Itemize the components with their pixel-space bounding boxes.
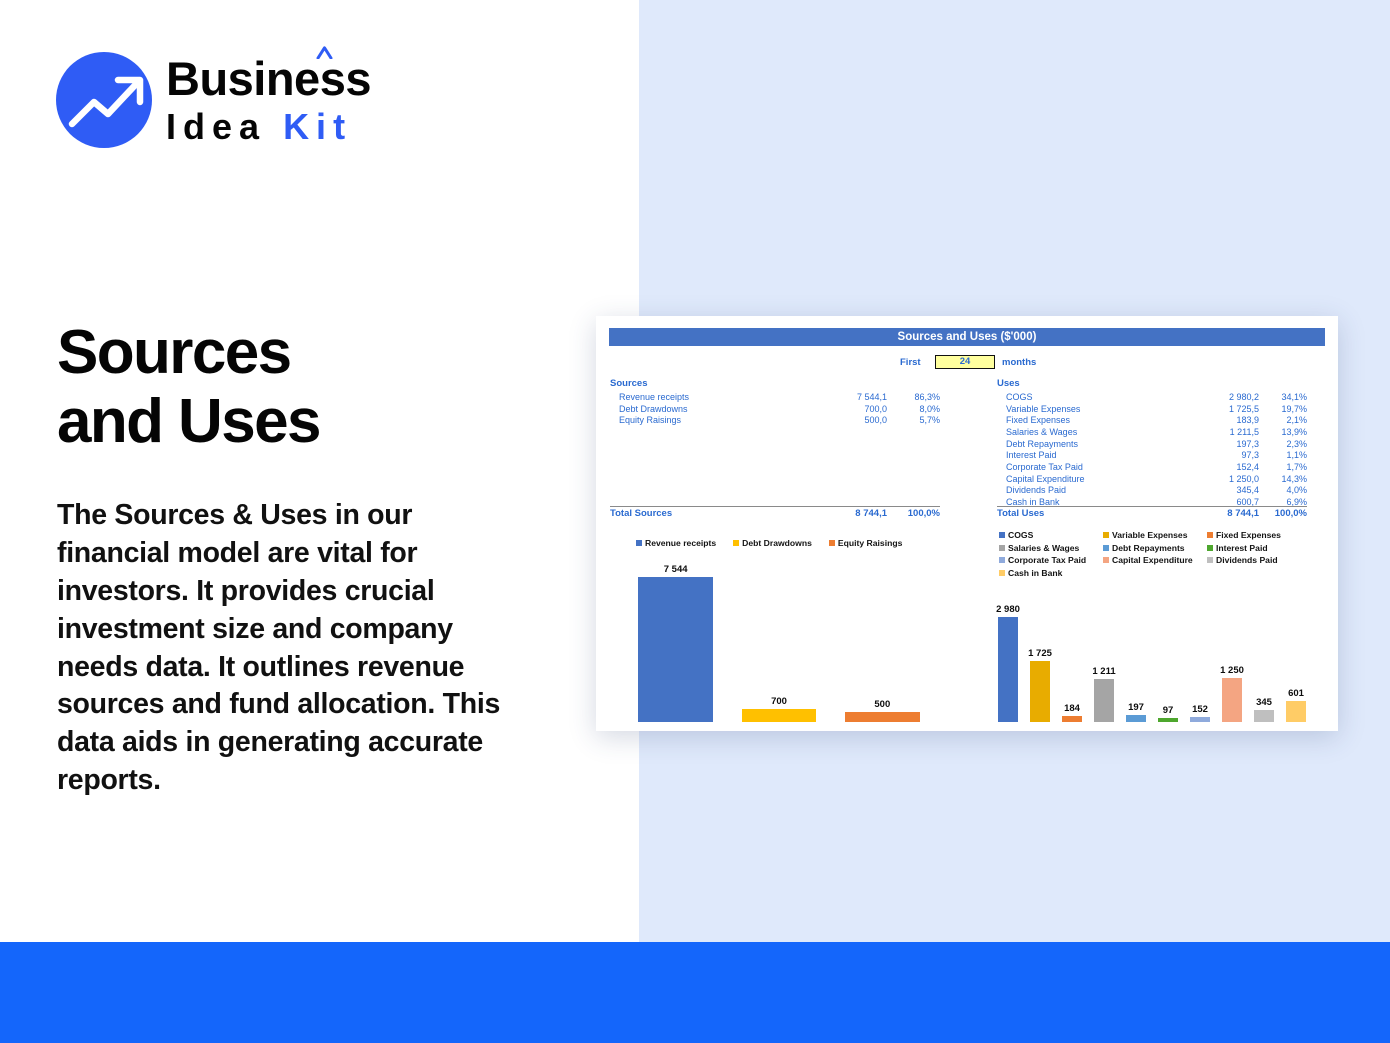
legend-swatch-icon [733,540,739,546]
bar [1254,710,1274,722]
bar [1222,678,1242,722]
row-label: COGS [997,392,1197,402]
table-row: Capital Expenditure1 250,014,3% [997,473,1307,485]
brand-name-line2: Idea Kit [166,109,371,145]
row-label: Variable Expenses [997,404,1197,414]
bar-column: 1 725 [1030,648,1050,722]
bar-column: 500 [845,699,919,722]
legend-swatch-icon [636,540,642,546]
legend-label: COGS [1008,530,1033,540]
brand-idea-text: Idea [166,106,266,147]
legend-swatch-icon [1207,532,1213,538]
row-percent: 2,3% [1259,439,1307,449]
bar-column: 184 [1062,703,1082,722]
row-value: 1 211,5 [1197,427,1259,437]
row-percent: 5,7% [888,415,940,425]
legend-item: Equity Raisings [829,538,902,548]
row-percent: 2,1% [1259,415,1307,425]
row-label: Revenue receipts [610,392,825,402]
bar-value-label: 1 725 [1028,648,1052,659]
brand-logo: Business Idea Kit [56,52,371,148]
row-label: Capital Expenditure [997,474,1197,484]
legend-label: Variable Expenses [1112,530,1187,540]
legend-item: Capital Expenditure [1103,555,1203,565]
sources-total-pct: 100,0% [888,508,940,519]
row-percent: 14,3% [1259,474,1307,484]
row-label: Debt Repayments [997,439,1197,449]
row-value: 152,4 [1197,462,1259,472]
row-percent: 13,9% [1259,427,1307,437]
bar-value-label: 152 [1192,704,1208,715]
legend-item: Dividends Paid [1207,555,1307,565]
legend-swatch-icon [1207,545,1213,551]
uses-table-header: Uses [997,378,1307,389]
legend-label: Salaries & Wages [1008,543,1079,553]
sources-total-label: Total Sources [610,508,825,519]
row-value: 97,3 [1197,450,1259,460]
legend-label: Interest Paid [1216,543,1268,553]
bar-column: 1 250 [1222,665,1242,722]
legend-swatch-icon [1103,545,1109,551]
bar-column: 700 [742,696,816,722]
bar-value-label: 97 [1163,705,1174,716]
table-row: Dividends Paid345,44,0% [997,485,1307,497]
legend-label: Debt Repayments [1112,543,1185,553]
row-percent: 34,1% [1259,392,1307,402]
bar-value-label: 197 [1128,702,1144,713]
legend-item: Debt Repayments [1103,543,1203,553]
legend-item: Debt Drawdowns [733,538,812,548]
bar [1126,715,1146,722]
uses-total-value: 8 744,1 [1197,508,1259,519]
brand-name-text: Business [166,52,371,105]
bar-column: 1 211 [1094,666,1114,722]
bar [742,709,816,722]
legend-swatch-icon [999,545,1005,551]
uses-table: Uses COGS2 980,234,1%Variable Expenses1 … [997,378,1307,508]
legend-label: Corporate Tax Paid [1008,555,1086,565]
row-percent: 8,0% [888,404,940,414]
legend-item: Cash in Bank [999,568,1099,578]
row-label: Fixed Expenses [997,415,1197,425]
bar-column: 152 [1190,704,1210,722]
legend-label: Revenue receipts [645,538,716,548]
table-row: Equity Raisings500,05,7% [610,414,940,426]
bar [1062,716,1082,722]
row-value: 197,3 [1197,439,1259,449]
uses-bar-chart: 2 9801 7251841 211197971521 250345601 [992,600,1312,722]
row-value: 183,9 [1197,415,1259,425]
row-percent: 4,0% [1259,485,1307,495]
table-row: Debt Repayments197,32,3% [997,438,1307,450]
sources-total-row: Total Sources 8 744,1 100,0% [610,506,940,519]
bar-column: 197 [1126,702,1146,722]
bar [1094,679,1114,722]
legend-swatch-icon [999,532,1005,538]
bar [638,577,712,722]
spreadsheet-title: Sources and Uses ($'000) [609,328,1325,346]
page-description: The Sources & Uses in our financial mode… [57,497,517,800]
sources-bar-chart: 7 544700500 [624,558,934,722]
sources-chart-legend: Revenue receiptsDebt DrawdownsEquity Rai… [636,538,936,551]
bar-value-label: 601 [1288,688,1304,699]
row-value: 500,0 [825,415,887,425]
table-row: Salaries & Wages1 211,513,9% [997,426,1307,438]
uses-total-label: Total Uses [997,508,1197,519]
legend-swatch-icon [999,557,1005,563]
row-value: 1 725,5 [1197,404,1259,414]
row-label: Debt Drawdowns [610,404,825,414]
period-suffix-label: months [1002,357,1036,368]
uses-total-row: Total Uses 8 744,1 100,0% [997,506,1307,519]
brand-kit-text: Kit [283,106,352,147]
bar [1030,661,1050,722]
legend-swatch-icon [829,540,835,546]
row-value: 2 980,2 [1197,392,1259,402]
bar-column: 7 544 [638,564,712,722]
row-label: Dividends Paid [997,485,1197,495]
sources-table-header: Sources [610,378,940,389]
table-row: Fixed Expenses183,92,1% [997,414,1307,426]
growth-arrow-icon [56,52,152,148]
legend-swatch-icon [1103,532,1109,538]
background-bar-bottom [0,942,1390,1043]
sources-table: Sources Revenue receipts7 544,186,3%Debt… [610,378,940,426]
bar [845,712,919,722]
circumflex-accent-icon [316,46,333,59]
legend-swatch-icon [1207,557,1213,563]
bar-value-label: 345 [1256,697,1272,708]
sources-total-wrap: Total Sources 8 744,1 100,0% [610,506,940,519]
bar-value-label: 700 [771,696,787,707]
bar-value-label: 500 [874,699,890,710]
legend-item: COGS [999,530,1099,540]
row-percent: 1,7% [1259,462,1307,472]
slide-root: Business Idea Kit Sources and Uses The S… [0,0,1390,1043]
bar-value-label: 7 544 [664,564,688,575]
legend-label: Capital Expenditure [1112,555,1193,565]
bar-value-label: 2 980 [996,604,1020,615]
table-row: Debt Drawdowns700,08,0% [610,403,940,415]
bar-column: 345 [1254,697,1274,722]
bar-column: 97 [1158,705,1178,722]
bar [998,617,1018,722]
row-percent: 86,3% [888,392,940,402]
period-prefix-label: First [900,357,921,368]
uses-total-pct: 100,0% [1259,508,1307,519]
table-row: Variable Expenses1 725,519,7% [997,403,1307,415]
row-value: 1 250,0 [1197,474,1259,484]
uses-chart-legend: COGSVariable ExpensesFixed ExpensesSalar… [999,530,1319,580]
brand-name-line1: Business [166,55,371,102]
legend-item: Corporate Tax Paid [999,555,1099,565]
row-value: 345,4 [1197,485,1259,495]
row-percent: 19,7% [1259,404,1307,414]
table-row: Revenue receipts7 544,186,3% [610,391,940,403]
legend-item: Interest Paid [1207,543,1307,553]
row-percent: 1,1% [1259,450,1307,460]
bar-value-label: 1 211 [1092,666,1115,677]
uses-total-wrap: Total Uses 8 744,1 100,0% [997,506,1307,519]
bar [1190,717,1210,722]
legend-label: Cash in Bank [1008,568,1062,578]
legend-item: Variable Expenses [1103,530,1203,540]
row-label: Corporate Tax Paid [997,462,1197,472]
row-value: 7 544,1 [825,392,887,402]
legend-swatch-icon [999,570,1005,576]
bar-value-label: 1 250 [1220,665,1244,676]
page-title: Sources and Uses [57,318,557,457]
legend-swatch-icon [1103,557,1109,563]
legend-label: Dividends Paid [1216,555,1278,565]
months-input[interactable]: 24 [935,355,995,369]
bar [1286,701,1306,722]
row-label: Salaries & Wages [997,427,1197,437]
bar-column: 601 [1286,688,1306,722]
row-value: 700,0 [825,404,887,414]
bar-column: 2 980 [998,604,1018,722]
row-label: Equity Raisings [610,415,825,425]
table-row: Interest Paid97,31,1% [997,449,1307,461]
legend-item: Revenue receipts [636,538,716,548]
table-row: Corporate Tax Paid152,41,7% [997,461,1307,473]
legend-label: Fixed Expenses [1216,530,1281,540]
table-row: COGS2 980,234,1% [997,391,1307,403]
legend-item: Salaries & Wages [999,543,1099,553]
legend-label: Equity Raisings [838,538,902,548]
legend-item: Fixed Expenses [1207,530,1307,540]
row-label: Interest Paid [997,450,1197,460]
bar-value-label: 184 [1064,703,1080,714]
legend-label: Debt Drawdowns [742,538,812,548]
sources-total-value: 8 744,1 [825,508,887,519]
bar [1158,718,1178,722]
